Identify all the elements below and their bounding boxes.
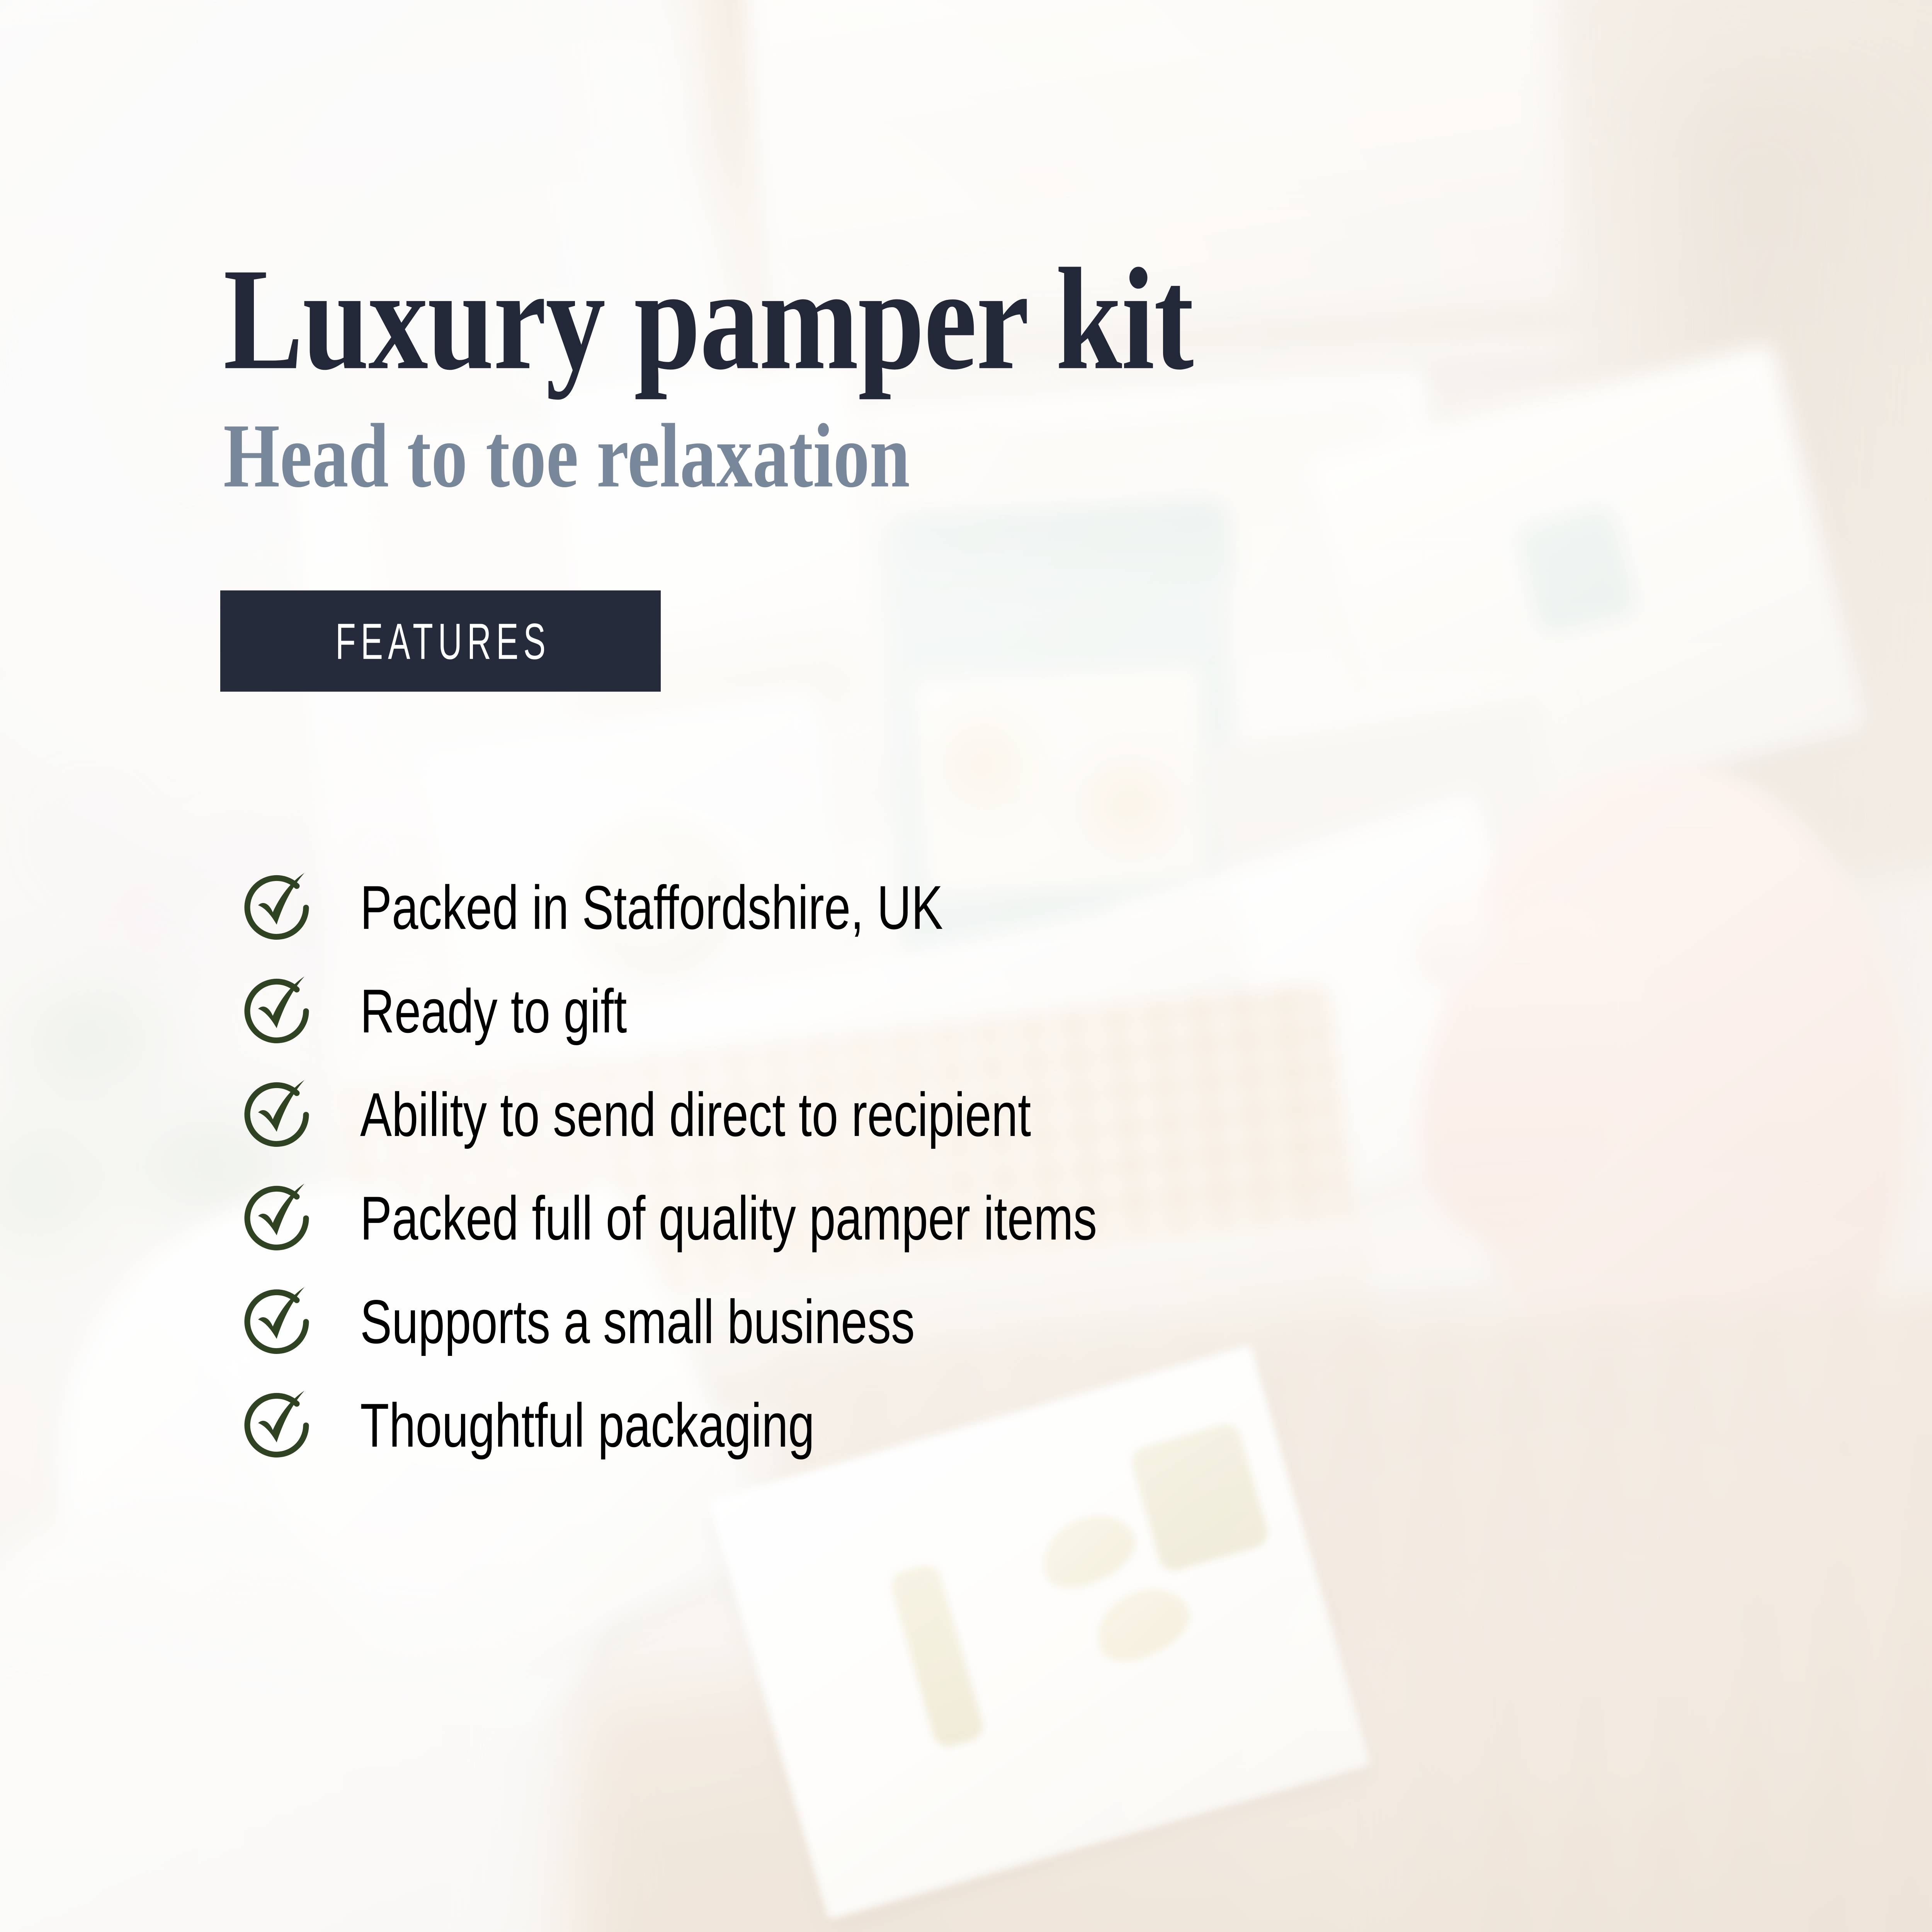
page-title: Luxury pamper kit: [223, 247, 1193, 393]
check-circle-icon: [240, 869, 317, 946]
feature-label: Ready to gift: [360, 980, 627, 1042]
product-feature-graphic: Luxury pamper kit Head to toe relaxation…: [0, 0, 1932, 1932]
check-circle-icon: [240, 1180, 317, 1257]
list-item: Packed in Staffordshire, UK: [240, 856, 1747, 959]
feature-label: Packed in Staffordshire, UK: [360, 877, 943, 939]
page-subtitle: Head to toe relaxation: [223, 410, 910, 502]
check-circle-icon: [240, 1387, 317, 1464]
list-item: Packed full of quality pamper items: [240, 1167, 1747, 1270]
check-circle-icon: [240, 1076, 317, 1153]
check-circle-icon: [240, 1283, 317, 1361]
list-item: Supports a small business: [240, 1270, 1747, 1374]
list-item: Ability to send direct to recipient: [240, 1063, 1747, 1167]
list-item: Ready to gift: [240, 959, 1747, 1063]
feature-label: Ability to send direct to recipient: [360, 1084, 1031, 1146]
feature-label: Thoughtful packaging: [360, 1395, 815, 1456]
feature-list: Packed in Staffordshire, UK Ready to gif…: [240, 856, 1747, 1477]
feature-label: Packed full of quality pamper items: [360, 1187, 1097, 1249]
feature-label: Supports a small business: [360, 1291, 915, 1353]
check-circle-icon: [240, 973, 317, 1050]
features-badge: FEATURES: [220, 590, 661, 692]
list-item: Thoughtful packaging: [240, 1374, 1747, 1477]
features-badge-label: FEATURES: [330, 612, 551, 671]
